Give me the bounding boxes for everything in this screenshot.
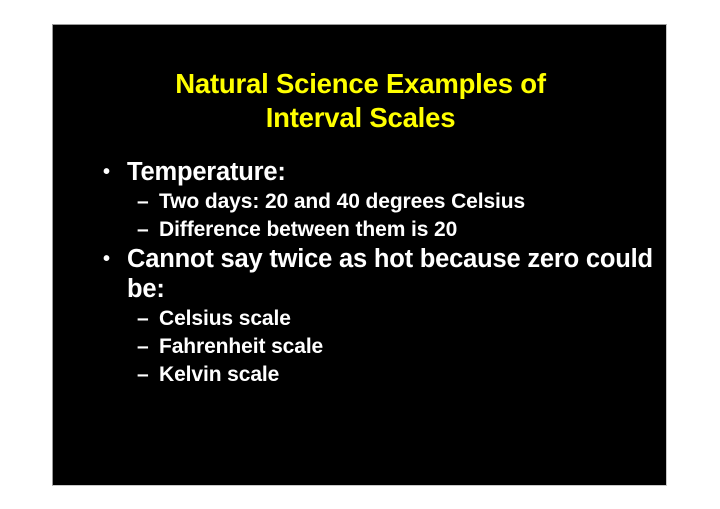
sub-bullet-dash-icon: – [137,305,159,333]
sub-bullet-item-kelvin: – Kelvin scale [53,361,667,389]
sub-bullet-item-label: Celsius scale [159,305,667,333]
sub-bullet-item-label: Kelvin scale [159,361,667,389]
bullet-dot-icon: • [103,244,123,274]
sub-bullet-item-two-days: – Two days: 20 and 40 degrees Celsius [53,188,667,216]
sub-bullet-dash-icon: – [137,216,159,244]
sub-bullet-item-difference: – Difference between them is 20 [53,216,667,244]
sub-bullet-item-label: Two days: 20 and 40 degrees Celsius [159,188,667,216]
sub-bullet-dash-icon: – [137,188,159,216]
bullet-item-cannot-say: • Cannot say twice as hot because zero c… [53,244,667,304]
page-background: Natural Science Examples of Interval Sca… [0,0,720,509]
slide-title: Natural Science Examples of Interval Sca… [53,67,667,135]
sub-bullet-dash-icon: – [137,333,159,361]
slide-body: • Temperature: – Two days: 20 and 40 deg… [53,157,667,389]
presentation-slide: Natural Science Examples of Interval Sca… [52,24,667,486]
bullet-dot-icon: • [103,157,123,187]
bullet-item-label: Temperature: [127,157,667,187]
sub-bullet-item-celsius: – Celsius scale [53,305,667,333]
sub-bullet-item-label: Fahrenheit scale [159,333,667,361]
sub-bullet-item-fahrenheit: – Fahrenheit scale [53,333,667,361]
slide-title-line-2: Interval Scales [53,101,667,135]
sub-bullet-dash-icon: – [137,361,159,389]
bullet-item-temperature: • Temperature: [53,157,667,187]
bullet-item-label: Cannot say twice as hot because zero cou… [127,244,667,304]
slide-title-line-1: Natural Science Examples of [53,67,667,101]
sub-bullet-item-label: Difference between them is 20 [159,216,667,244]
